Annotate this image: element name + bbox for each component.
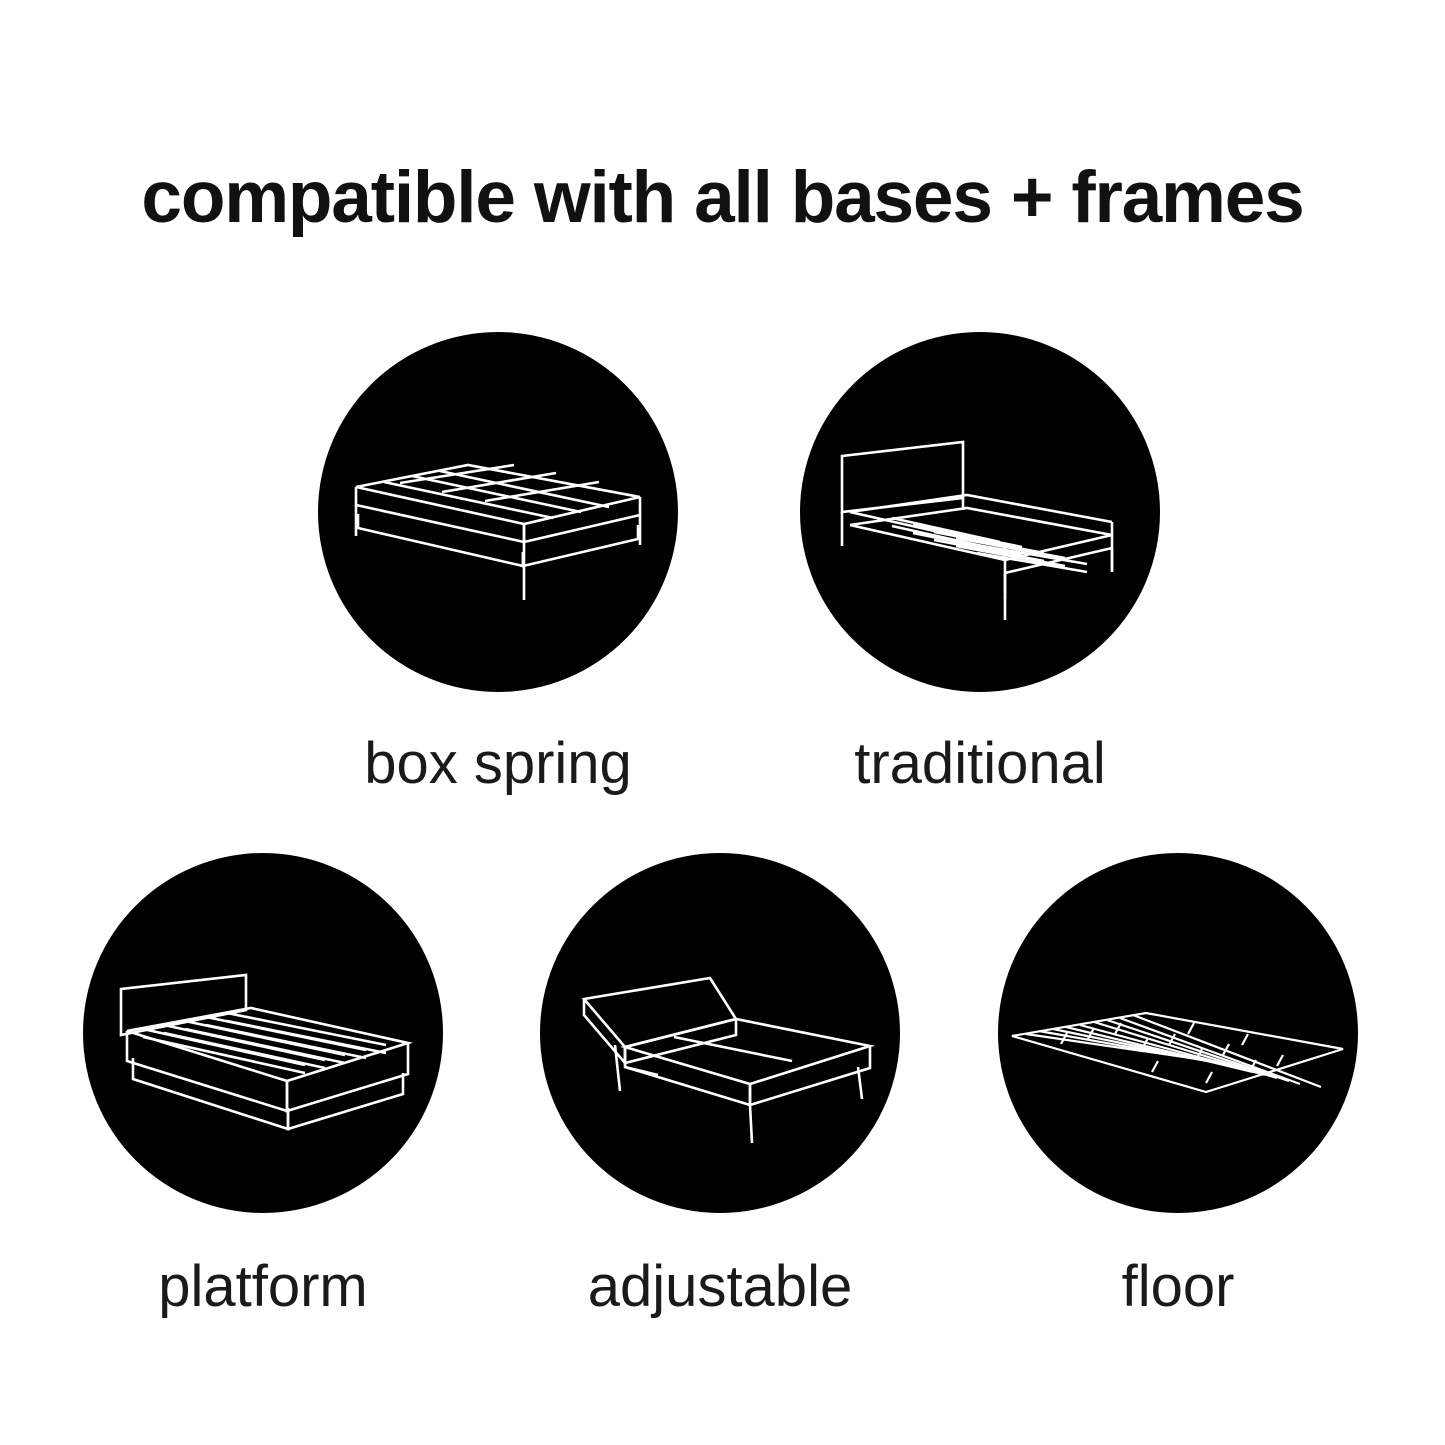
- item-label-traditional: traditional: [800, 730, 1160, 797]
- icon-disc-platform: [83, 853, 443, 1213]
- box-spring-bed-base-icon: [318, 332, 678, 692]
- icon-disc-box-spring: [318, 332, 678, 692]
- item-adjustable: adjustable: [540, 853, 900, 1320]
- item-label-adjustable: adjustable: [540, 1253, 900, 1320]
- item-label-box-spring: box spring: [318, 730, 678, 797]
- item-traditional: traditional: [800, 332, 1160, 797]
- item-label-floor: floor: [998, 1253, 1358, 1320]
- page-title: compatible with all bases + frames: [0, 160, 1445, 237]
- item-label-platform: platform: [83, 1253, 443, 1320]
- item-platform: platform: [83, 853, 443, 1320]
- platform-bed-base-icon: [83, 853, 443, 1213]
- floor-surface-icon: [998, 853, 1358, 1213]
- icon-disc-floor: [998, 853, 1358, 1213]
- infographic-root: compatible with all bases + frames: [0, 0, 1445, 1445]
- item-floor: floor: [998, 853, 1358, 1320]
- traditional-bed-frame-icon: [800, 332, 1160, 692]
- item-box-spring: box spring: [318, 332, 678, 797]
- adjustable-bed-base-icon: [540, 853, 900, 1213]
- icon-disc-traditional: [800, 332, 1160, 692]
- icon-disc-adjustable: [540, 853, 900, 1213]
